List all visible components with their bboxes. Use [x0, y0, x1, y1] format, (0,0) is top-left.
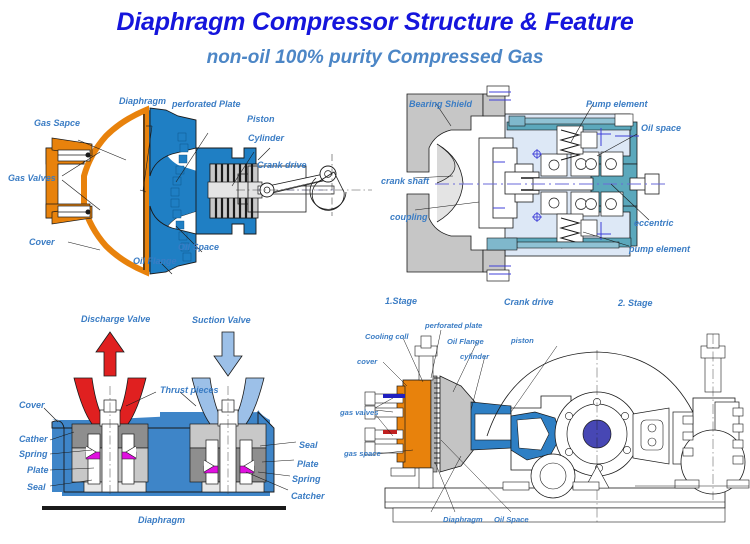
two-stage-compressor-elevation — [335, 290, 750, 544]
callout-label: Suction Valve — [192, 316, 251, 325]
discharge-arrow — [96, 332, 124, 376]
callout-label: Crank drive — [504, 298, 554, 307]
callout-label: eccentric — [634, 219, 674, 228]
page-title: Diaphragm Compressor Structure & Feature — [0, 8, 750, 37]
callout-label: Piston — [247, 115, 275, 124]
callout-label: Discharge Valve — [81, 315, 150, 324]
callout-label: Diaphragm — [443, 516, 483, 524]
callout-label: crank shaft — [381, 177, 429, 186]
callout-label: coupling — [390, 213, 428, 222]
callout-label: gas valves — [340, 409, 378, 417]
callout-label: Spring — [292, 475, 321, 484]
callout-label: Cover — [29, 238, 55, 247]
suction-arrow — [214, 332, 242, 376]
callout-label: Crank drive — [257, 161, 307, 170]
callout-label: Cather — [19, 435, 48, 444]
callout-label: Gas Valves — [8, 174, 56, 183]
callout-label: 2. Stage — [618, 299, 653, 308]
page-subtitle: non-oil 100% purity Compressed Gas — [0, 47, 750, 69]
callout-label: 1.Stage — [385, 297, 417, 306]
callout-label: Oil Space — [178, 243, 219, 252]
callout-label: Cooling coll — [365, 333, 408, 341]
callout-label: piston — [511, 337, 534, 345]
callout-label: Oil Flange — [447, 338, 484, 346]
callout-label: perforated Plate — [172, 100, 241, 109]
callout-label: Diaphragm — [138, 516, 185, 525]
callout-label: Plate — [297, 460, 319, 469]
slide-root: Diaphragm Compressor Structure & Feature… — [0, 0, 750, 544]
suction-discharge-valve-detail — [0, 300, 375, 544]
callout-label: Oil Space — [494, 516, 529, 524]
callout-label: Oil Flange — [133, 257, 177, 266]
callout-label: Bearing Shield — [409, 100, 472, 109]
callout-label: Cover — [19, 401, 45, 410]
callout-label: perforated plate — [425, 322, 482, 330]
callout-label: Oil space — [641, 124, 681, 133]
callout-label: Seal — [27, 483, 46, 492]
callout-label: cover — [357, 358, 377, 366]
callout-label: pump element — [629, 245, 690, 254]
callout-label: cylinder — [460, 353, 489, 361]
callout-label: Plate — [27, 466, 49, 475]
callout-label: Pump element — [586, 100, 648, 109]
crank-shaft-oil-pump-section — [375, 86, 750, 281]
callout-label: Spring — [19, 450, 48, 459]
callout-label: Seal — [299, 441, 318, 450]
callout-label: gas space — [344, 450, 381, 458]
callout-label: Diaphragm — [119, 97, 166, 106]
callout-label: Thrust pieces — [160, 386, 219, 395]
callout-label: Cylinder — [248, 134, 284, 143]
callout-label: Gas Sapce — [34, 119, 80, 128]
callout-label: Catcher — [291, 492, 325, 501]
